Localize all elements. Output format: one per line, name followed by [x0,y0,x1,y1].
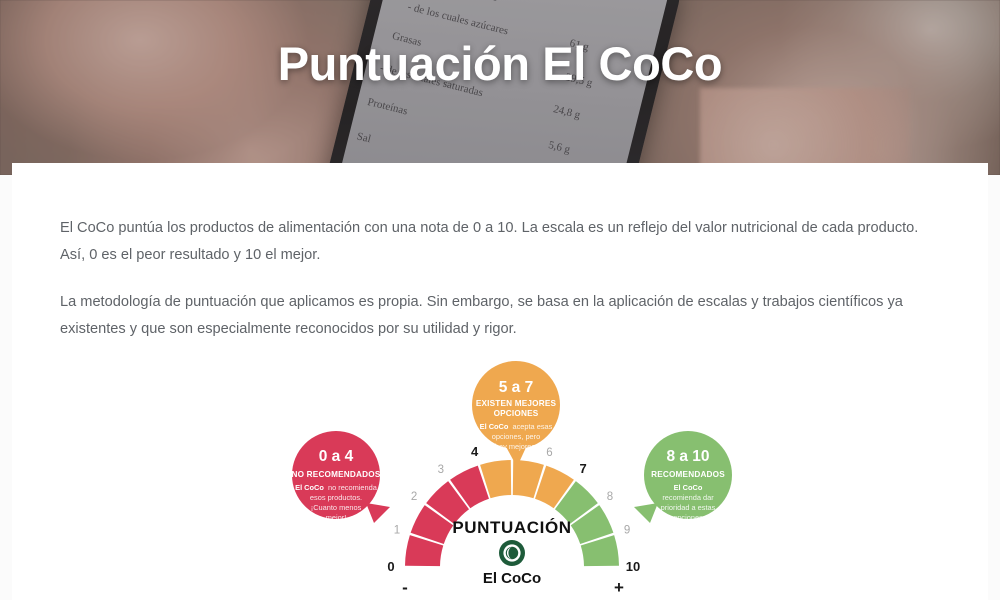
callout-orange-line3: hay mejores. [495,442,537,451]
gauge-tick-label: 7 [580,461,587,476]
gauge-center-title: PUNTUACIÓN [452,518,571,537]
svg-text:El CoCo no recomie: El CoCo no recomienda [295,483,378,492]
callout-orange-brand: El CoCo [480,422,509,431]
elcoco-logo-icon [499,540,525,566]
gauge-tick-label: 1 [394,525,400,537]
page-root: energético 1909 kJ (456 kcal) Hidratos d… [0,0,1000,600]
callout-red-line2: esos productos. [310,493,362,502]
gauge-tick-label: 2 [411,491,417,503]
callout-orange-line1: acepta esas [512,422,552,431]
gauge-tick-label: 10 [626,559,640,574]
hero-banner: energético 1909 kJ (456 kcal) Hidratos d… [0,0,1000,175]
content-card: El CoCo puntúa los productos de alimenta… [12,163,988,600]
gauge-tick-label: 6 [546,447,552,459]
callout-green-line1: recomienda dar [662,493,714,502]
callout-red-line3: ¡Cuanto menos [311,503,362,512]
page-title: Puntuación El CoCo [0,36,1000,91]
svg-text:El CoCo acepta esa: El CoCo acepta esas [480,422,553,431]
callout-green: 8 a 10 RECOMENDADOS El CoCo recomienda d… [634,431,732,523]
callout-green-heading: RECOMENDADOS [651,470,725,479]
callout-green-line3: opciones [673,513,703,522]
callout-red-brand: El CoCo [295,483,324,492]
callout-orange-line2: opciones, pero [492,432,540,441]
gauge-tick-label: 0 [387,559,394,574]
gauge-svg: 012345678910 - + PUNTUACIÓN El CoCo [292,355,732,600]
score-gauge-infographic: 012345678910 - + PUNTUACIÓN El CoCo [292,355,732,600]
callout-red-heading: NO RECOMENDADOS [292,470,381,479]
callout-orange-range: 5 a 7 [499,379,533,396]
plus-sign: + [614,578,624,597]
intro-paragraph-2: La metodología de puntuación que aplicam… [60,289,926,343]
callout-red-range: 0 a 4 [319,448,354,465]
callout-green-line2: prioridad a estas [661,503,716,512]
gauge-tick-label: 8 [607,491,613,503]
callout-green-range: 8 a 10 [666,448,709,465]
callout-green-brand: El CoCo [674,483,703,492]
callout-orange-heading-2: OPCIONES [494,409,539,418]
callout-red-line1: no recomienda [328,483,378,492]
gauge-center-brand: El CoCo [483,570,541,587]
intro-paragraph-1: El CoCo puntúa los productos de alimenta… [60,215,926,269]
callout-red-line4: mejor! [326,513,347,522]
gauge-tick-label: 4 [471,444,479,459]
callout-orange-heading-1: EXISTEN MEJORES [476,399,557,408]
callout-red: 0 a 4 NO RECOMENDADOS El CoCo no recomie… [292,431,390,523]
gauge-tick-label: 9 [624,525,630,537]
minus-sign: - [402,578,408,597]
gauge-tick-label: 3 [438,464,444,476]
